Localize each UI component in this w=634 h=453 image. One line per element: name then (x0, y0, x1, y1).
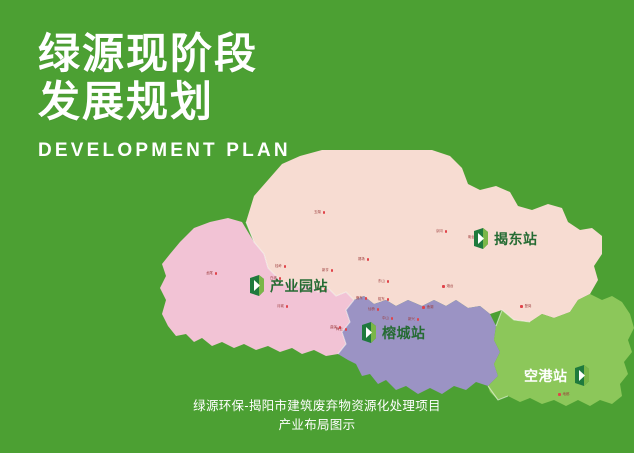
green-leaf-logo-icon (360, 322, 377, 343)
subtitle-development-plan: DEVELOPMENT PLAN (38, 140, 291, 162)
caption-line-1: 绿源环保-揭阳市建筑废弃物资源化处理项目 (0, 397, 634, 416)
map-region-rongcheng[interactable] (338, 296, 500, 394)
title-line-1: 绿源现阶段 (38, 30, 291, 78)
slide-root: 绿源现阶段 发展规划 DEVELOPMENT PLAN 玉湖 (0, 0, 634, 453)
station-name: 空港站 (524, 366, 568, 386)
station-label-konggang[interactable]: 空港站 (524, 365, 590, 386)
title-block: 绿源现阶段 发展规划 DEVELOPMENT PLAN (38, 30, 291, 162)
station-label-rongcheng[interactable]: 榕城站 (360, 322, 426, 343)
title-line-2: 发展规划 (38, 78, 291, 126)
caption-line-2: 产业布局图示 (0, 416, 634, 435)
station-name: 揭东站 (494, 229, 538, 249)
station-name: 产业园站 (270, 276, 328, 296)
green-leaf-logo-icon (573, 365, 590, 386)
station-label-jiedong[interactable]: 揭东站 (472, 228, 538, 249)
caption-block: 绿源环保-揭阳市建筑废弃物资源化处理项目 产业布局图示 (0, 397, 634, 435)
station-label-chanyeyuan[interactable]: 产业园站 (248, 275, 328, 296)
green-leaf-logo-icon (248, 275, 265, 296)
station-name: 榕城站 (382, 323, 426, 343)
green-leaf-logo-icon (472, 228, 489, 249)
